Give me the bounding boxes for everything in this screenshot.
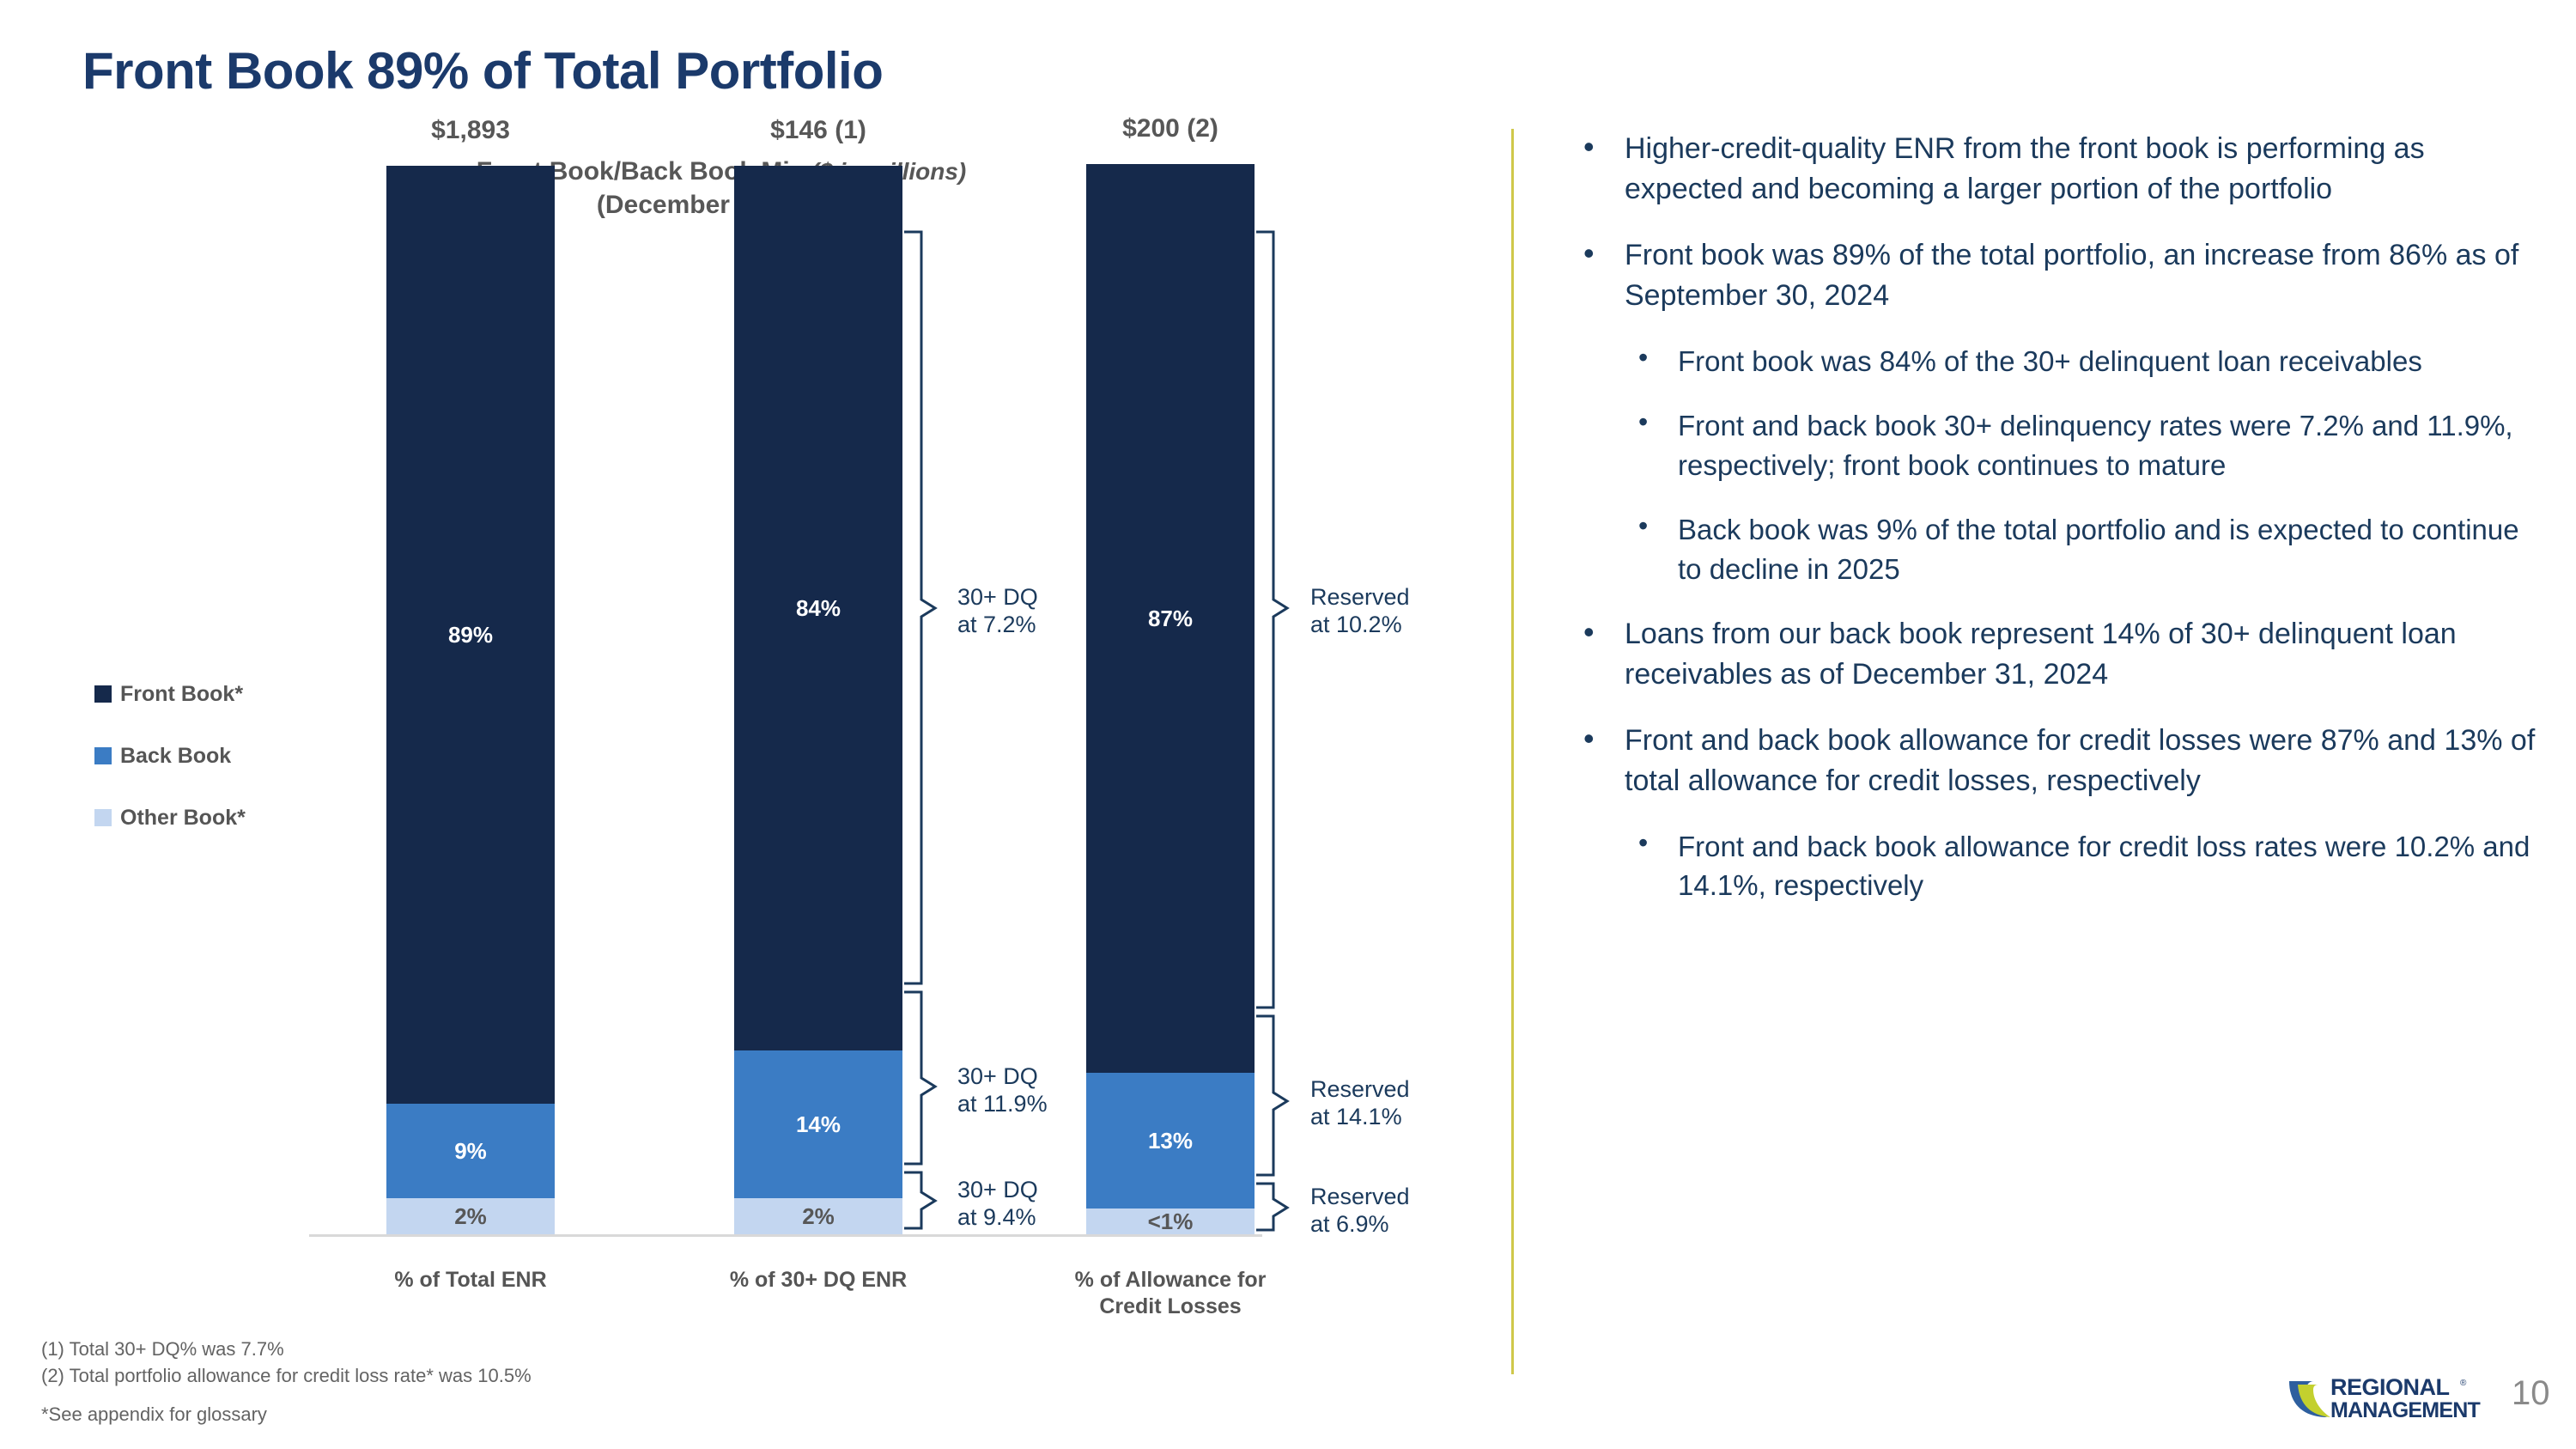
annotation-middle-back-l1: 30+ DQ (957, 1063, 1048, 1091)
bar-stack-3: 87% 13% <1% (1086, 164, 1255, 1234)
annotation-middle-back: 30+ DQ at 11.9% (957, 1063, 1048, 1117)
legend-item-back-book[interactable]: Back Book (94, 740, 246, 771)
bar-total-label-2: $146 (1) (770, 116, 866, 145)
footnote-2: (2) Total portfolio allowance for credit… (41, 1363, 532, 1390)
list-item: Higher-credit-quality ENR from the front… (1571, 129, 2542, 210)
logo-text-line1: REGIONAL (2330, 1374, 2450, 1400)
bar-segment-label-back-3: 13% (1148, 1129, 1193, 1152)
annotation-middle-back-l2: at 11.9% (957, 1091, 1048, 1118)
annotation-middle-front-l1: 30+ DQ (957, 584, 1038, 612)
bracket-group-right-bar (1255, 180, 1315, 1409)
footnote-glossary: *See appendix for glossary (41, 1402, 532, 1428)
annotation-right-back-l1: Reserved (1310, 1076, 1410, 1104)
bar-group-allowance[interactable]: $200 (2) 87% 13% <1% % of Allowance for … (1086, 164, 1255, 1234)
page-number: 10 (2512, 1374, 2550, 1413)
list-item: Front book was 84% of the 30+ delinquent… (1625, 342, 2542, 381)
annotation-middle-other: 30+ DQ at 9.4% (957, 1177, 1038, 1231)
legend-swatch-other-book (94, 809, 112, 826)
annotation-right-other: Reserved at 6.9% (1310, 1184, 1410, 1238)
annotation-right-other-l2: at 6.9% (1310, 1211, 1410, 1239)
bar-segment-label-other-3: <1% (1148, 1210, 1194, 1233)
list-item: Front and back book allowance for credit… (1625, 827, 2542, 905)
logo-text-line2: MANAGEMENT (2330, 1398, 2480, 1422)
list-item: Front and back book 30+ delinquency rate… (1625, 406, 2542, 484)
bar-segment-back-book-1[interactable]: 9% (386, 1104, 555, 1198)
legend-label-other-book: Other Book* (120, 806, 246, 831)
slide-canvas: Front Book 89% of Total Portfolio Front … (0, 0, 2576, 1449)
annotation-right-back-l2: at 14.1% (1310, 1104, 1410, 1131)
page-title: Front Book 89% of Total Portfolio (82, 41, 883, 100)
list-item: Front book was 89% of the total portfoli… (1571, 235, 2542, 316)
regional-management-logo-icon: REGIONAL ® MANAGEMENT (2286, 1371, 2500, 1424)
list-item: Loans from our back book represent 14% o… (1571, 614, 2542, 695)
bar-segment-front-book-3[interactable]: 87% (1086, 164, 1255, 1073)
bar-segment-back-book-2[interactable]: 14% (734, 1050, 902, 1198)
annotation-middle-other-l2: at 9.4% (957, 1204, 1038, 1232)
logo-registered-mark: ® (2460, 1379, 2467, 1388)
bar-segment-front-book-1[interactable]: 89% (386, 166, 555, 1104)
bar-group-dq-enr[interactable]: $146 (1) 84% 14% 2% % of 30+ DQ ENR (734, 166, 902, 1234)
legend-swatch-front-book (94, 685, 112, 703)
plot-area: $1,893 89% 9% 2% % of Total ENR $146 (1) (283, 180, 1297, 1409)
commentary-panel: Higher-credit-quality ENR from the front… (1511, 129, 2533, 1374)
logo-swoosh-green-icon (2298, 1385, 2330, 1417)
company-logo: REGIONAL ® MANAGEMENT (2286, 1371, 2500, 1424)
footnotes: (1) Total 30+ DQ% was 7.7% (2) Total por… (41, 1336, 532, 1428)
bullet-list: Higher-credit-quality ENR from the front… (1571, 129, 2542, 931)
annotation-middle-front-l2: at 7.2% (957, 612, 1038, 639)
legend-item-other-book[interactable]: Other Book* (94, 802, 246, 833)
bar-segment-back-book-3[interactable]: 13% (1086, 1073, 1255, 1209)
category-label-1: % of Total ENR (346, 1267, 595, 1294)
chart-legend: Front Book* Back Book Other Book* (94, 679, 246, 864)
bar-segment-other-book-2[interactable]: 2% (734, 1198, 902, 1234)
bar-total-label-3: $200 (2) (1122, 114, 1218, 143)
bar-stack-1: 89% 9% 2% (386, 166, 555, 1234)
annotation-right-front-l2: at 10.2% (1310, 612, 1410, 639)
bar-group-total-enr[interactable]: $1,893 89% 9% 2% % of Total ENR (386, 166, 555, 1234)
legend-item-front-book[interactable]: Front Book* (94, 679, 246, 709)
annotation-right-other-l1: Reserved (1310, 1184, 1410, 1211)
annotation-right-front: Reserved at 10.2% (1310, 584, 1410, 638)
bar-segment-label-back-2: 14% (796, 1113, 841, 1135)
bar-total-label-1: $1,893 (431, 116, 510, 145)
legend-label-back-book: Back Book (120, 744, 231, 769)
list-item: Front and back book allowance for credit… (1571, 721, 2542, 801)
annotation-right-back: Reserved at 14.1% (1310, 1076, 1410, 1130)
list-item: Back book was 9% of the total portfolio … (1625, 510, 2542, 588)
bar-segment-label-other-2: 2% (802, 1205, 835, 1227)
chart-panel: Front Book/Back Book Mix ($ in millions)… (0, 129, 1511, 1331)
bar-segment-front-book-2[interactable]: 84% (734, 166, 902, 1050)
bracket-group-middle-bar (902, 180, 963, 1409)
bar-segment-label-back-1: 9% (454, 1140, 487, 1162)
bar-segment-other-book-3[interactable]: <1% (1086, 1209, 1255, 1234)
panel-divider-rule (1511, 129, 1514, 1374)
legend-label-front-book: Front Book* (120, 682, 243, 707)
bar-segment-other-book-1[interactable]: 2% (386, 1198, 555, 1234)
footnote-1: (1) Total 30+ DQ% was 7.7% (41, 1336, 532, 1363)
bar-segment-label-other-1: 2% (454, 1205, 487, 1227)
bar-segment-label-front-3: 87% (1148, 607, 1193, 630)
bar-stack-2: 84% 14% 2% (734, 166, 902, 1234)
annotation-middle-front: 30+ DQ at 7.2% (957, 584, 1038, 638)
bar-segment-label-front-2: 84% (796, 597, 841, 619)
annotation-right-front-l1: Reserved (1310, 584, 1410, 612)
legend-swatch-back-book (94, 747, 112, 764)
annotation-middle-other-l1: 30+ DQ (957, 1177, 1038, 1204)
x-axis-line (309, 1234, 1262, 1237)
bar-segment-label-front-1: 89% (448, 624, 493, 646)
